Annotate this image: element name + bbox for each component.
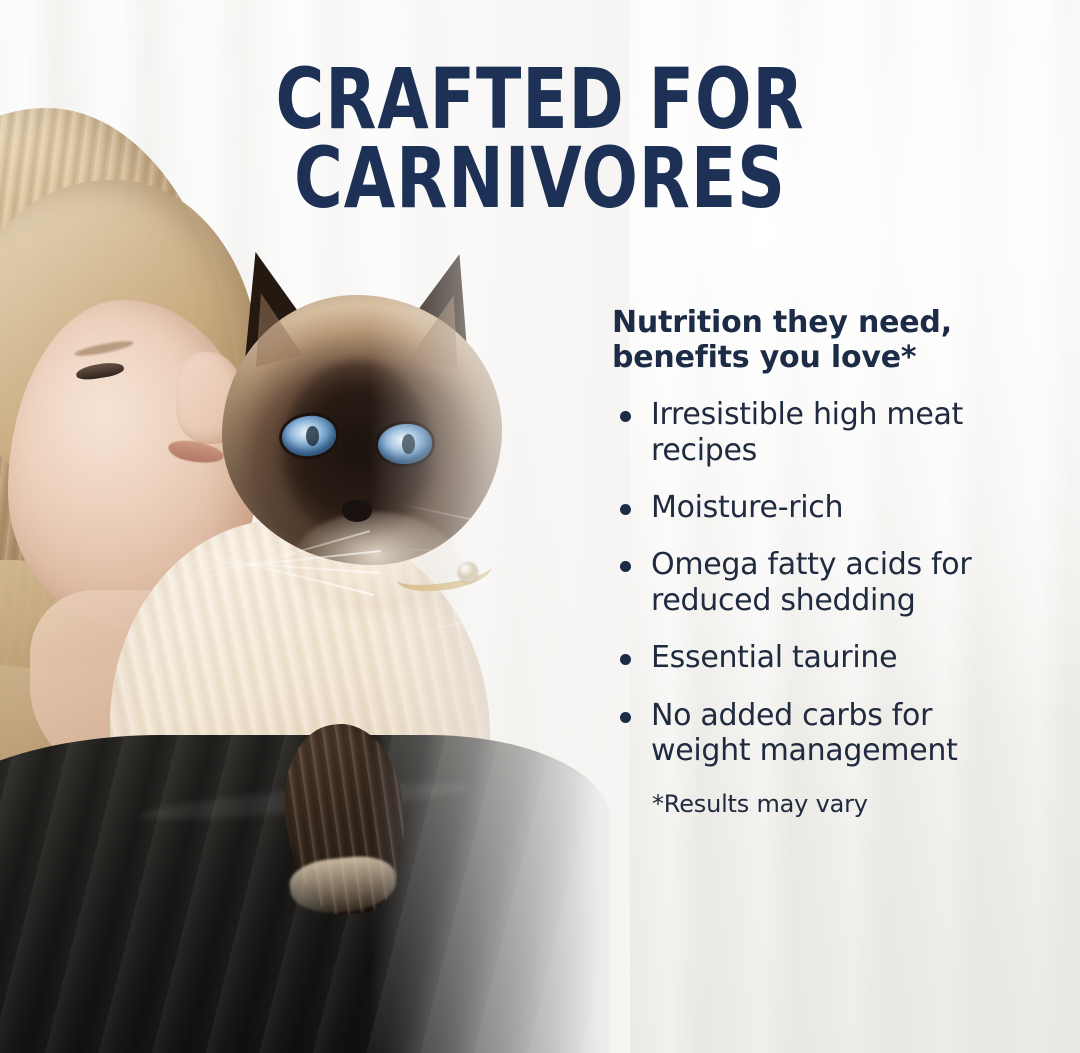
disclaimer-footnote: *Results may vary	[652, 790, 1016, 818]
list-item: Irresistible high meat recipes	[612, 397, 1016, 468]
promo-poster: CRAFTED FOR CARNIVORES Nutrition they ne…	[0, 0, 1080, 1053]
page-title-line-2: CARNIVORES	[223, 139, 857, 218]
bullet-dot-icon	[620, 712, 631, 723]
cat-nose	[342, 500, 372, 522]
bullet-dot-icon	[620, 411, 631, 422]
list-item-label: Omega fatty acids for reduced shedding	[651, 547, 1016, 618]
list-item: Moisture-rich	[612, 490, 1016, 525]
bullet-dot-icon	[620, 654, 631, 665]
page-title: CRAFTED FOR CARNIVORES	[223, 60, 857, 218]
list-item: No added carbs for weight management	[612, 698, 1016, 769]
benefits-subheading: Nutrition they need, benefits you love*	[612, 305, 1016, 375]
bullet-dot-icon	[620, 504, 631, 515]
benefits-panel: Nutrition they need, benefits you love* …	[612, 305, 1016, 818]
list-item: Omega fatty acids for reduced shedding	[612, 547, 1016, 618]
list-item-label: Moisture-rich	[651, 490, 843, 525]
list-item-label: No added carbs for weight management	[651, 698, 1016, 769]
list-item-label: Essential taurine	[651, 640, 897, 675]
whisker	[177, 530, 370, 587]
list-item-label: Irresistible high meat recipes	[651, 397, 1016, 468]
benefits-list: Irresistible high meat recipes Moisture-…	[612, 397, 1016, 768]
bullet-dot-icon	[620, 561, 631, 572]
cat-pupil-left	[306, 426, 319, 446]
list-item: Essential taurine	[612, 640, 1016, 675]
